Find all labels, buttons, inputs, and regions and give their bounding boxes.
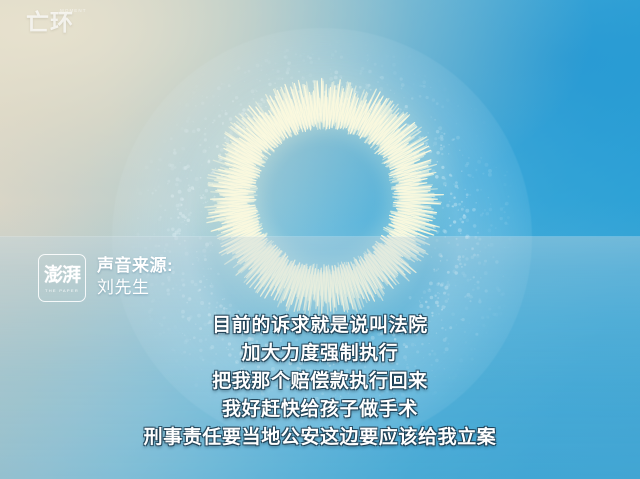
source-name: 刘先生	[97, 277, 173, 299]
watermark-text: 亡环	[26, 11, 74, 34]
channel-watermark: 亡环 MOMENT	[26, 11, 74, 34]
subtitle-line: 刑事责任要当地公安这边要应该给我立案	[144, 428, 497, 447]
source-text-group: 声音来源: 刘先生	[97, 256, 173, 299]
subtitle-line: 目前的诉求就是说叫法院	[212, 316, 428, 335]
audio-source-credit: 澎湃 THE PAPER 声音来源: 刘先生	[38, 254, 173, 302]
badge-logo-text: 澎湃	[44, 266, 80, 285]
subtitle-line: 我好赶快给孩子做手术	[222, 400, 418, 419]
subtitle-line: 加大力度强制执行	[242, 344, 399, 363]
watermark-subtext: MOMENT	[60, 9, 87, 14]
source-label: 声音来源:	[97, 256, 173, 277]
the-paper-logo-badge: 澎湃 THE PAPER	[38, 254, 86, 302]
subtitle-block: 目前的诉求就是说叫法院加大力度强制执行把我那个赔偿款执行回来我好赶快给孩子做手术…	[0, 316, 640, 447]
subtitle-line: 把我那个赔偿款执行回来	[212, 372, 428, 391]
badge-logo-subtext: THE PAPER	[45, 288, 79, 293]
video-player-frame: 亡环 MOMENT 澎湃 THE PAPER 声音来源: 刘先生 目前的诉求就是…	[0, 0, 640, 479]
